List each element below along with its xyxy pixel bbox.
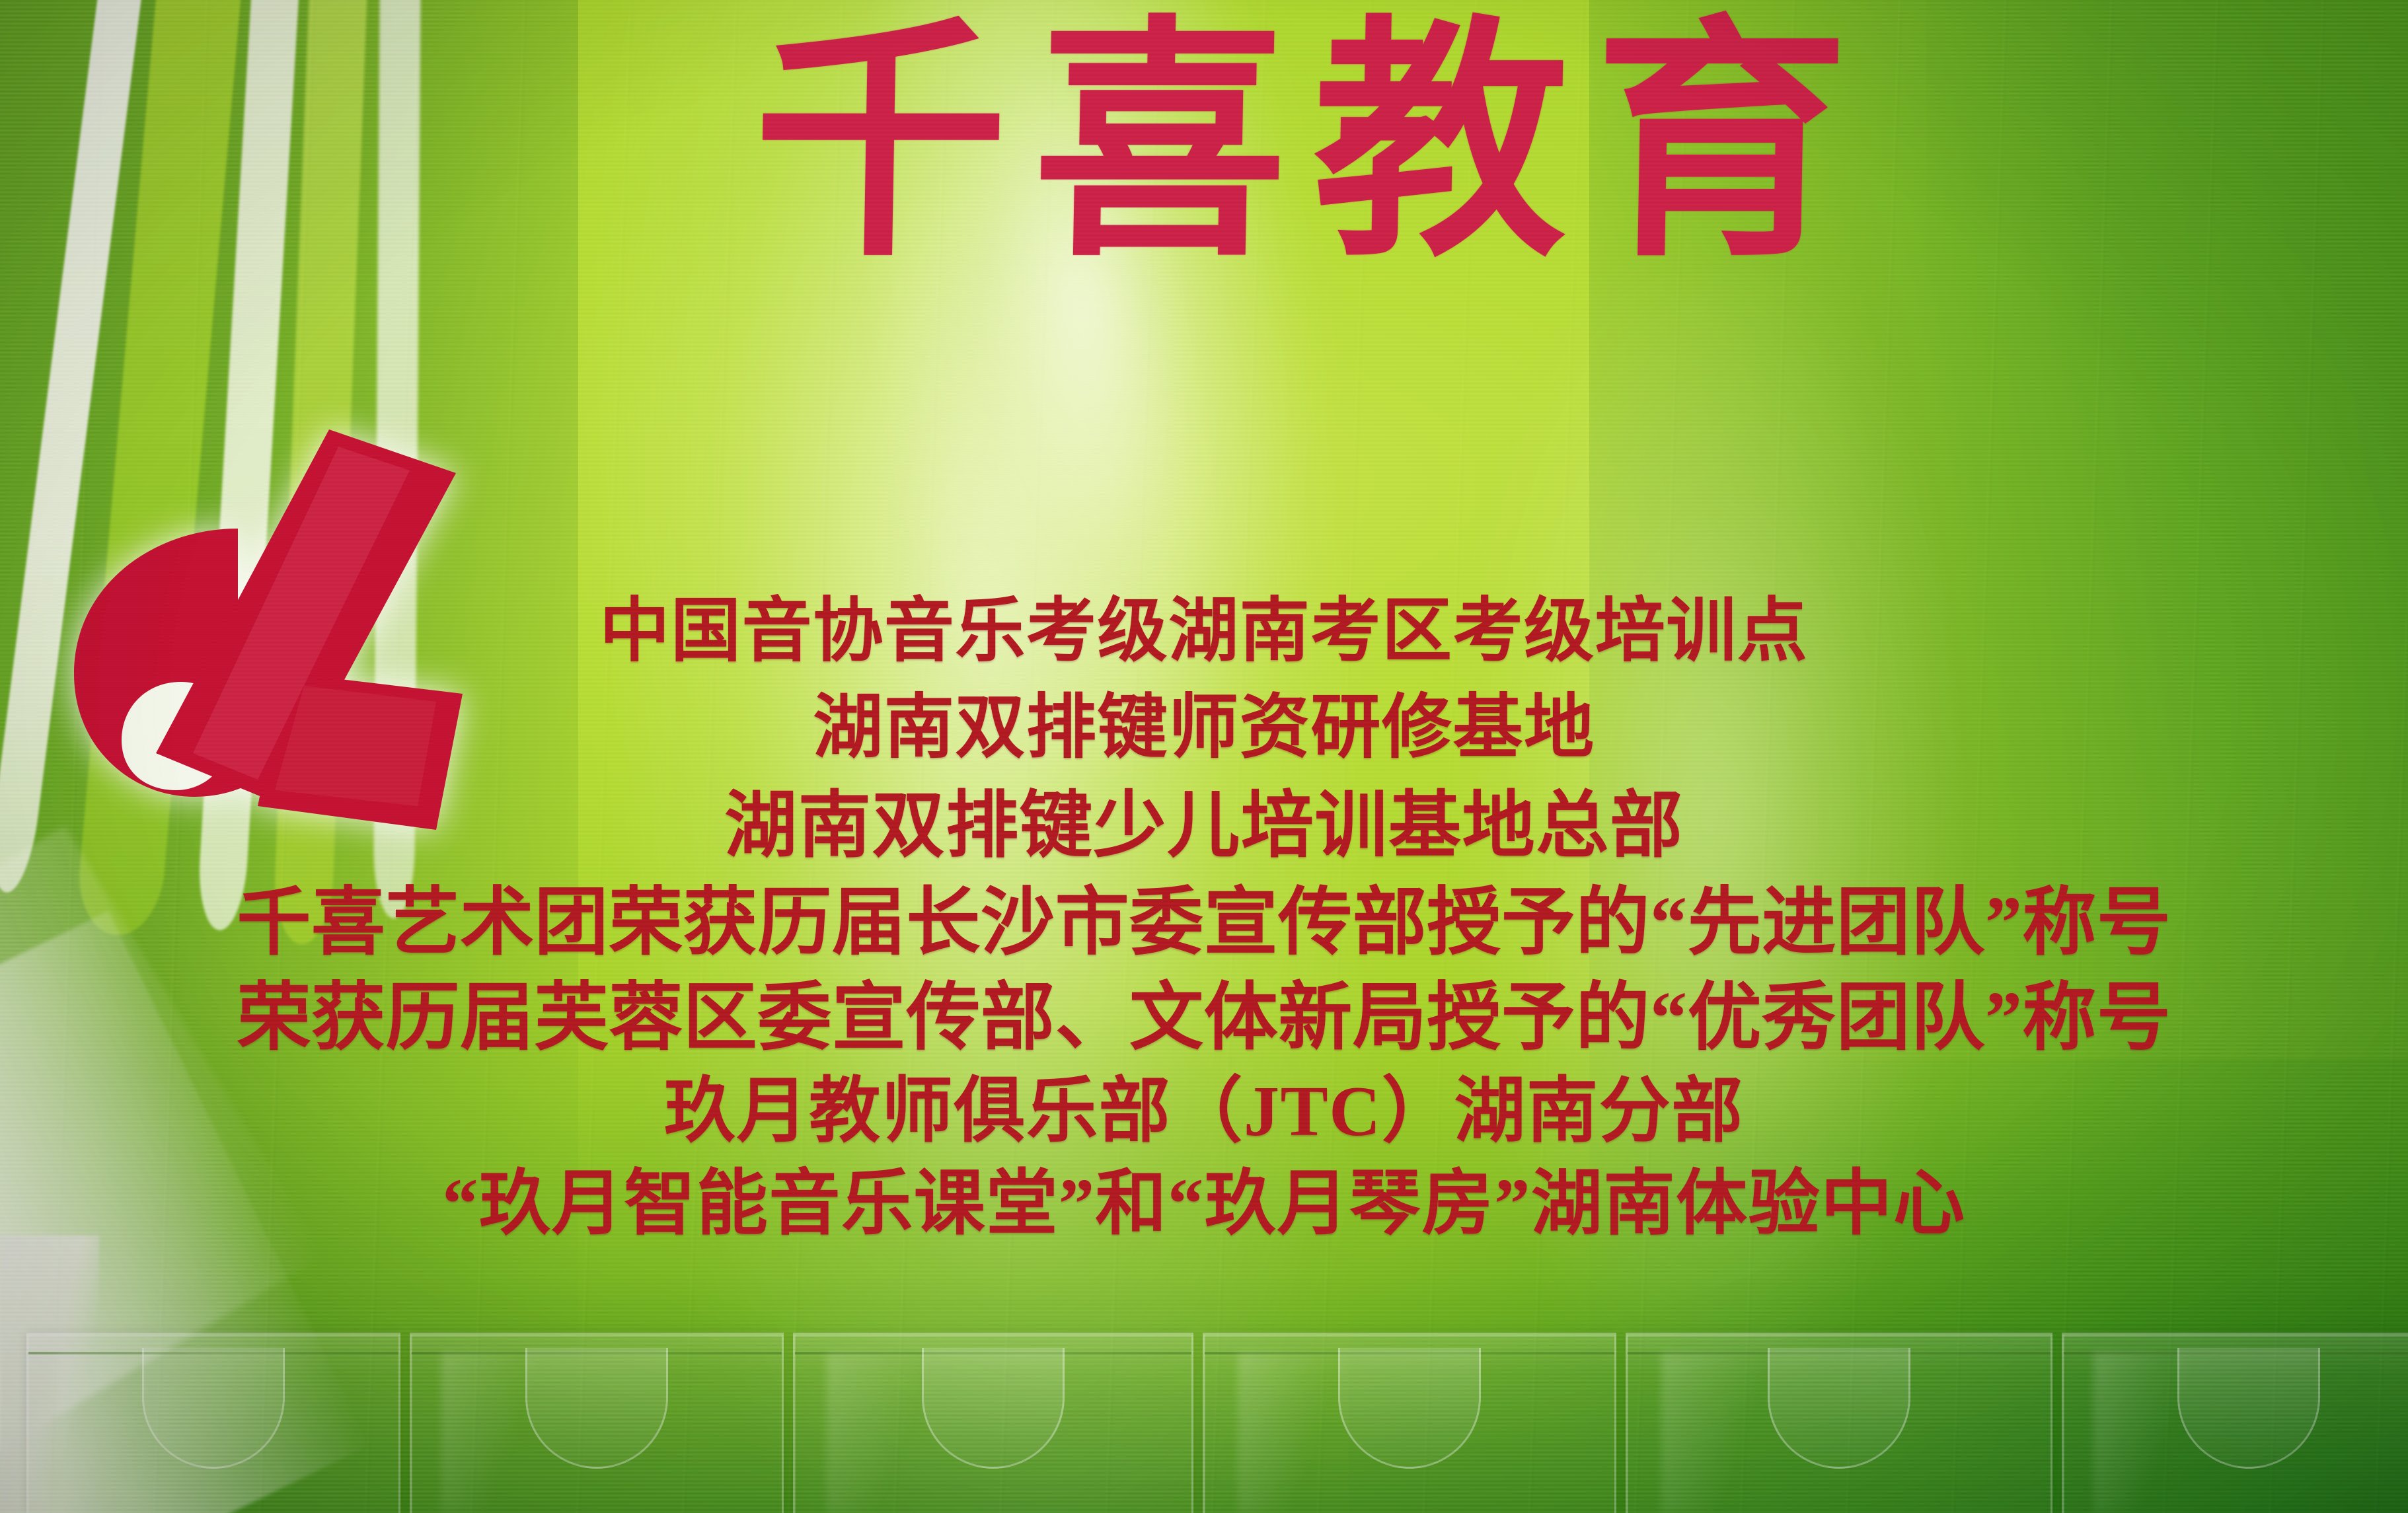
acrylic-brochure-holder[interactable]: [2062, 1333, 2408, 1513]
credential-line-5: 荣获历届芙蓉区委宣传部、文体新局授予的“优秀团队”称号: [0, 979, 2408, 1057]
acrylic-brochure-holder[interactable]: [793, 1333, 1193, 1513]
acrylic-brochure-holder[interactable]: [1203, 1333, 1616, 1513]
holder-glare: [58, 1352, 155, 1513]
holder-notch: [922, 1348, 1065, 1469]
brochure-holder-row: [0, 1315, 2408, 1513]
holder-glare: [2093, 1352, 2190, 1513]
holder-notch: [1768, 1348, 1910, 1469]
holder-notch: [525, 1348, 668, 1469]
holder-glare: [1661, 1352, 1771, 1513]
credential-line-6: 玖月教师俱乐部（JTC）湖南分部: [0, 1074, 2408, 1150]
acrylic-brochure-holder[interactable]: [26, 1333, 400, 1513]
holder-notch: [1338, 1348, 1481, 1469]
credential-line-1: 中国音协音乐考级湖南考区考级培训点: [0, 595, 2408, 669]
signage-wall-photo: 千喜教育 中国音协音乐考级湖南考区考级培训点 湖南双排键师资研修基地 湖南双排键…: [0, 0, 2408, 1513]
holder-glare: [441, 1352, 538, 1513]
holder-glare: [827, 1352, 930, 1513]
sign-title: 千喜教育: [0, 18, 2408, 273]
holder-glare: [1238, 1352, 1344, 1513]
acrylic-brochure-holder[interactable]: [1626, 1333, 2052, 1513]
holder-notch: [142, 1348, 285, 1469]
holder-notch: [2177, 1348, 2320, 1469]
credential-line-3: 湖南双排键少儿培训基地总部: [0, 788, 2408, 864]
credential-line-7: “玖月智能音乐课堂”和“玖月琴房”湖南体验中心: [0, 1167, 2408, 1242]
credentials-block: 中国音协音乐考级湖南考区考级培训点 湖南双排键师资研修基地 湖南双排键少儿培训基…: [0, 595, 2408, 1242]
acrylic-brochure-holder[interactable]: [410, 1333, 784, 1513]
credential-line-2: 湖南双排键师资研修基地: [0, 691, 2408, 765]
credential-line-4: 千喜艺术团荣获历届长沙市委宣传部授予的“先进团队”称号: [0, 884, 2408, 962]
